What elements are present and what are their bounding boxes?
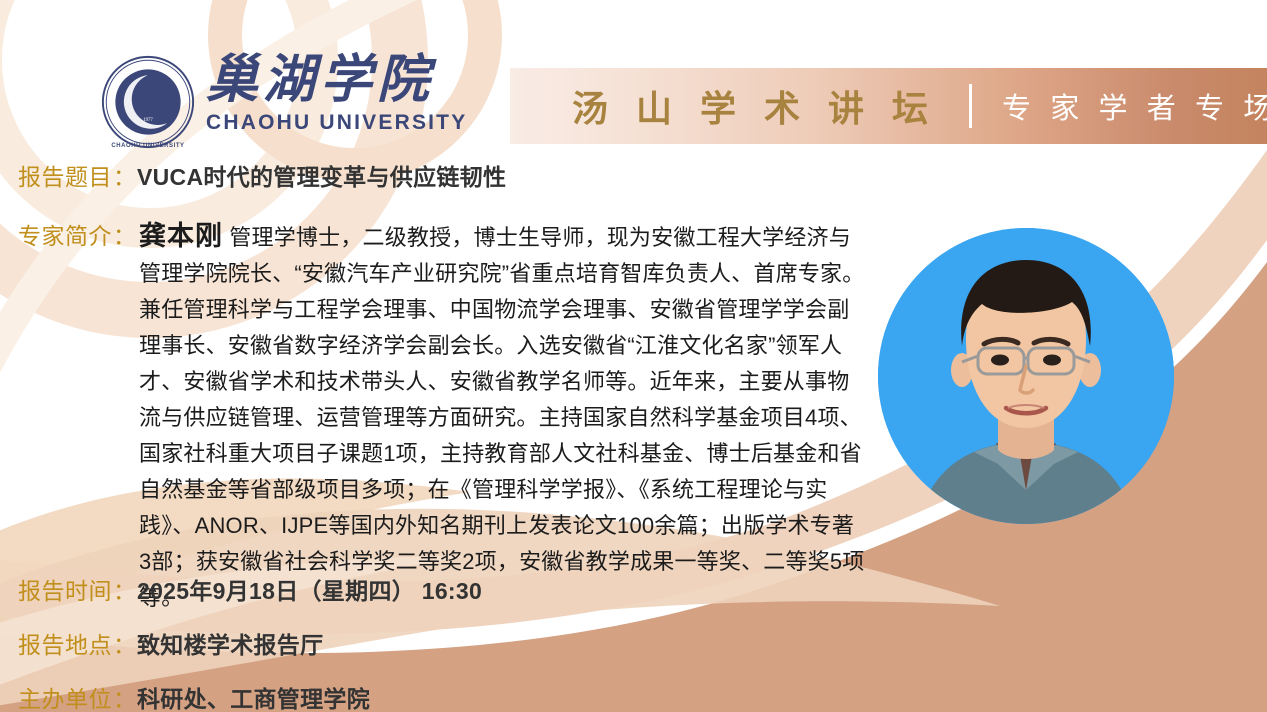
portrait-illustration (878, 228, 1174, 524)
value-host-unit: 科研处、工商管理学院 (137, 680, 370, 712)
label-report-time: 报告时间 (18, 572, 112, 606)
label-report-place: 报告地点 (18, 626, 112, 660)
value-report-title: VUCA时代的管理变革与供应链韧性 (137, 158, 506, 192)
value-report-time: 2025年9月18日（星期四） 16:30 (137, 572, 482, 606)
colon-report-title: ： (112, 158, 137, 192)
bio-label-group: 专家简介： (18, 214, 137, 251)
row-report-time: 报告时间 ： 2025年9月18日（星期四） 16:30 (18, 572, 482, 606)
lecture-poster: 1977 CHAOHU UNIVERSITY 巢湖学院 CHAOHU UNIVE… (0, 0, 1267, 712)
speaker-bio-body: 龚本刚 管理学博士，二级教授，博士生导师，现为安徽工程大学经济与管理学院院长、“… (139, 214, 869, 616)
colon-speaker-bio: ： (112, 223, 137, 249)
row-report-title: 报告题目 ： VUCA时代的管理变革与供应链韧性 (18, 158, 506, 192)
label-speaker-bio: 专家简介 (18, 223, 112, 249)
speaker-name: 龚本刚 (139, 221, 223, 251)
row-report-place: 报告地点 ： 致知楼学术报告厅 (18, 626, 323, 660)
label-report-title: 报告题目 (18, 158, 112, 192)
colon-report-place: ： (112, 626, 137, 660)
speaker-bio-text: 管理学博士，二级教授，博士生导师，现为安徽工程大学经济与管理学院院长、“安徽汽车… (139, 225, 865, 610)
label-host-unit: 主办单位 (18, 680, 112, 712)
colon-host-unit: ： (112, 680, 137, 712)
colon-report-time: ： (112, 572, 137, 606)
speaker-portrait-photo (878, 228, 1174, 524)
row-speaker-bio: 专家简介： 龚本刚 管理学博士，二级教授，博士生导师，现为安徽工程大学经济与管理… (18, 214, 869, 616)
row-host-unit: 主办单位 ： 科研处、工商管理学院 (18, 680, 370, 712)
value-report-place: 致知楼学术报告厅 (137, 626, 323, 660)
